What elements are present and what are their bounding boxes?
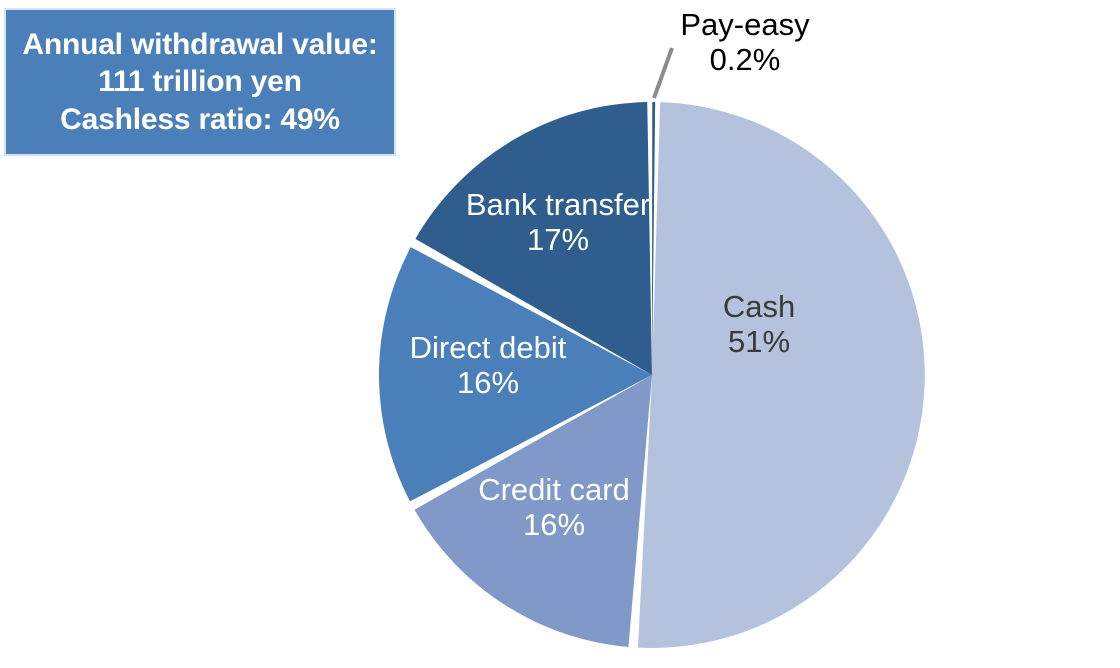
pay-easy-leader-line [654, 48, 672, 98]
pie-chart-figure: Annual withdrawal value: 111 trillion ye… [0, 0, 1120, 668]
pie-graphic [0, 0, 1120, 668]
pie-slice-cash [638, 102, 925, 648]
pie-slice-group [379, 102, 925, 648]
